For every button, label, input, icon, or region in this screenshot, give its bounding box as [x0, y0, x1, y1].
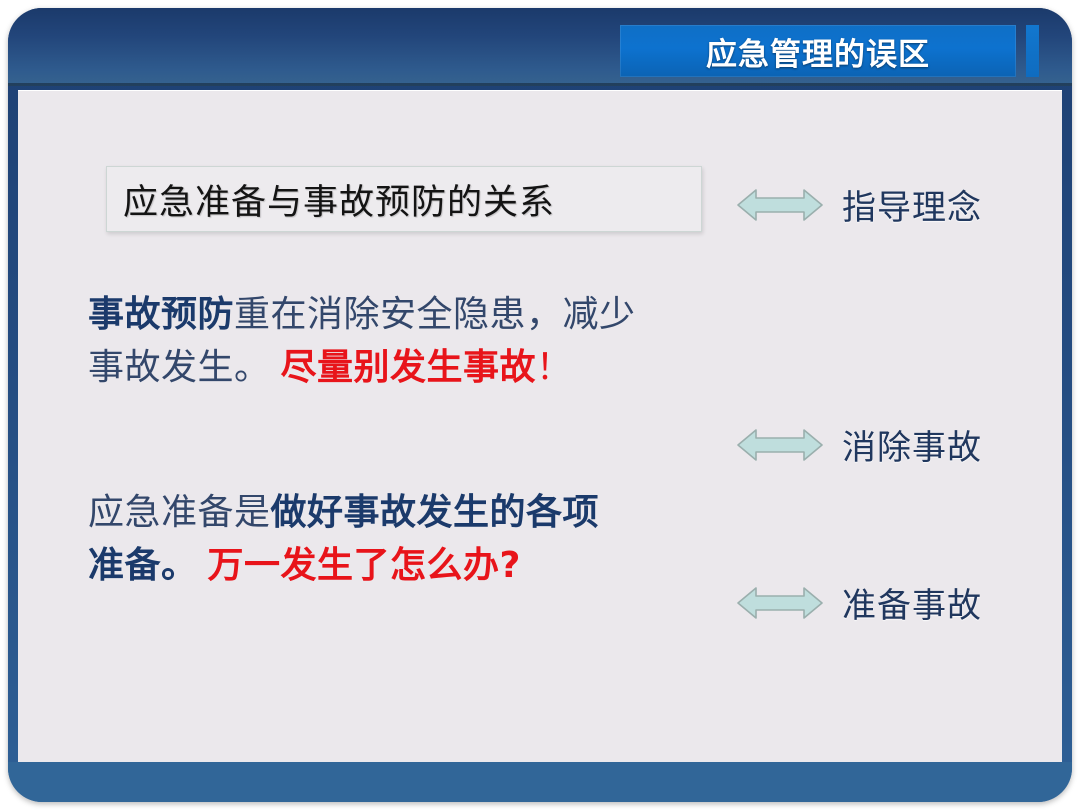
paragraph-1-line-1: 事故预防重在消除安全隐患，减少	[88, 288, 728, 341]
paragraph-emergency-preparedness: 应急准备是做好事故发生的各项 准备。万一发生了怎么办?	[88, 486, 728, 593]
preparedness-body: 做好事故发生的各项	[271, 492, 600, 533]
page-title: 应急管理的误区	[706, 29, 930, 74]
paragraph-1-line-2: 事故发生。尽量别发生事故！	[88, 341, 728, 394]
accident-prevention-body: 重在消除安全隐患，减少	[234, 294, 636, 335]
note-row-1: 指导理念	[736, 180, 982, 229]
headline-text: 应急准备与事故预防的关系	[123, 174, 555, 225]
preparedness-emphasis: 万一发生了怎么办?	[208, 545, 521, 586]
accident-prevention-body-2: 事故发生。	[88, 347, 271, 388]
double-arrow-icon	[736, 583, 824, 623]
slide-content-canvas: 应急准备与事故预防的关系 指导理念 事故预防重在消除安全隐患，减少 事故发生。尽…	[18, 90, 1062, 762]
double-arrow-icon	[736, 185, 824, 225]
accident-prevention-emphasis: 尽量别发生事故	[281, 347, 537, 388]
note-row-2: 消除事故	[736, 420, 982, 469]
note-label-1: 指导理念	[842, 180, 982, 229]
note-label-3: 准备事故	[842, 578, 982, 627]
note-label-2: 消除事故	[842, 420, 982, 469]
preparedness-lead: 应急准备是	[88, 492, 271, 533]
note-row-3: 准备事故	[736, 578, 982, 627]
slide-title-block: 应急管理的误区	[620, 25, 1016, 77]
accident-prevention-keyword: 事故预防	[88, 294, 234, 335]
accident-prevention-exclaim: ！	[536, 347, 573, 388]
slide-frame: 应急管理的误区 应急准备与事故预防的关系 指导理念 事故预防重在消除安全隐患，减…	[8, 8, 1072, 802]
footer-band	[8, 762, 1072, 802]
double-arrow-icon	[736, 425, 824, 465]
paragraph-accident-prevention: 事故预防重在消除安全隐患，减少 事故发生。尽量别发生事故！	[88, 288, 728, 395]
paragraph-2-line-2: 准备。万一发生了怎么办?	[88, 539, 728, 592]
slide-root: 应急管理的误区 应急准备与事故预防的关系 指导理念 事故预防重在消除安全隐患，减…	[0, 0, 1080, 810]
title-accent-bar	[1026, 25, 1039, 77]
preparedness-body-2: 准备。	[88, 545, 198, 586]
paragraph-2-line-1: 应急准备是做好事故发生的各项	[88, 486, 728, 539]
headline-box: 应急准备与事故预防的关系	[106, 166, 702, 232]
